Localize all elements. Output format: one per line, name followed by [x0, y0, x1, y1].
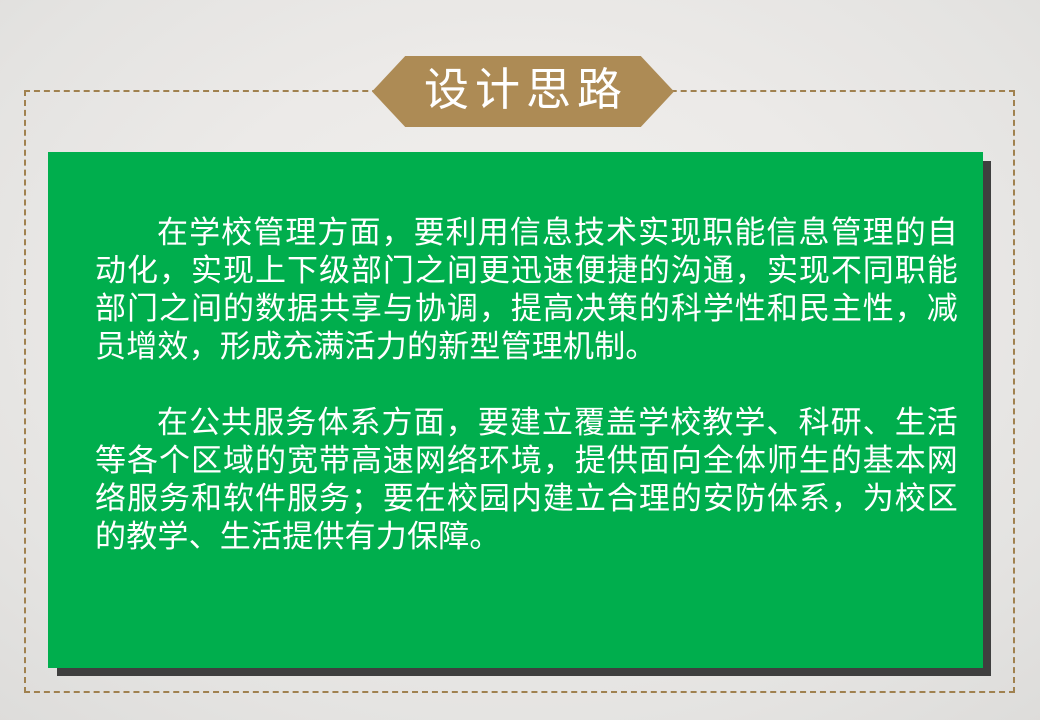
body-copy: 在学校管理方面，要利用信息技术实现职能信息管理的自动化，实现上下级部门之间更迅速… — [95, 214, 958, 556]
slide-canvas: 设计思路 在学校管理方面，要利用信息技术实现职能信息管理的自动化，实现上下级部门… — [0, 0, 1040, 720]
content-panel: 在学校管理方面，要利用信息技术实现职能信息管理的自动化，实现上下级部门之间更迅速… — [48, 152, 983, 668]
paragraph-2: 在公共服务体系方面，要建立覆盖学校教学、科研、生活等各个区域的宽带高速网络环境，… — [95, 404, 958, 556]
page-title: 设计思路 — [418, 68, 628, 115]
paragraph-1: 在学校管理方面，要利用信息技术实现职能信息管理的自动化，实现上下级部门之间更迅速… — [95, 214, 958, 366]
title-banner: 设计思路 — [372, 56, 674, 127]
